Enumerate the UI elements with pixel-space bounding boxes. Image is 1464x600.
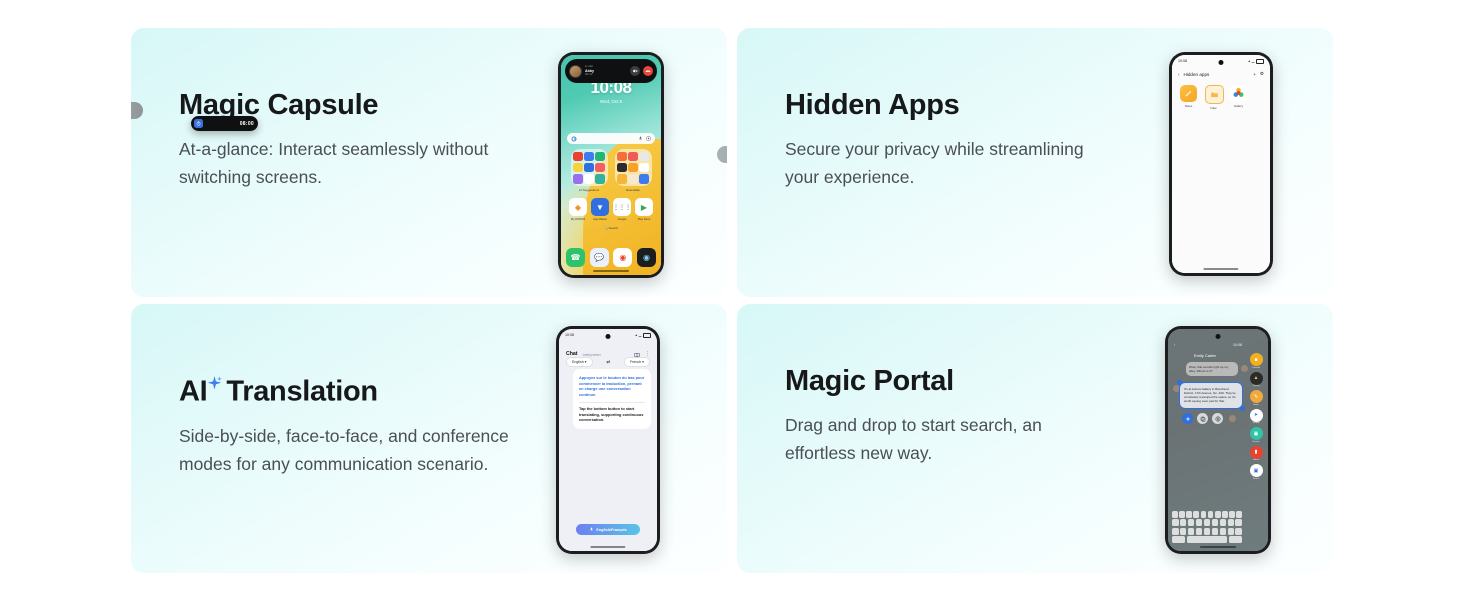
folder-icon-tile	[584, 174, 594, 184]
camera-punch-hole	[1216, 334, 1221, 339]
rail-label: Calendar	[1250, 367, 1263, 369]
status-icons: ▴ ▁	[1248, 59, 1264, 64]
button-label: English/Français	[596, 528, 626, 532]
ai-sparkle-icon	[206, 368, 223, 385]
my-honor-icon: ◆	[569, 198, 587, 216]
app-row: ◆ My HONOR ▼ App Market ⋮⋮⋮ Google	[566, 198, 656, 221]
message-bubble-incoming[interactable]: Wow, that sounds right up my alley. Wher…	[1186, 362, 1238, 376]
notes-icon: ✎	[1250, 390, 1263, 403]
folder-label: AI Suggestions	[571, 188, 608, 192]
phone-screen: 10:08 ▴ ▁ ‹ Hidden apps + ⚙	[1172, 55, 1270, 273]
folder-icon-tile	[617, 152, 627, 162]
home-indicator	[1200, 546, 1236, 548]
feature-cards-grid: Magic Capsule At-a-glance: Interact seam…	[131, 28, 1333, 573]
mic-icon	[589, 527, 594, 532]
source-language-chip[interactable]: English ▾	[566, 357, 593, 367]
mute-icon	[632, 68, 638, 74]
folder-icon-tile	[573, 163, 583, 173]
dock: ☎ 💬 ◉ ◉	[566, 248, 656, 267]
key[interactable]	[1204, 519, 1211, 526]
app-label: App Market	[591, 218, 609, 221]
google-folder-icon: ⋮⋮⋮	[613, 198, 631, 216]
folder-icon-tile	[573, 152, 583, 162]
card-text-block: AITranslation Side-by-side, face-to-face…	[179, 366, 509, 478]
rail-app-review[interactable]: ▣ Review	[1250, 427, 1263, 443]
phone-mockup-magic-capsule: 10:08 Wed, Oct 8 in call Abby 00:12	[558, 52, 664, 278]
key[interactable]	[1193, 511, 1199, 518]
files-icon	[1205, 85, 1224, 104]
title-prefix: AI	[179, 376, 207, 408]
folder-icon-tile	[584, 152, 594, 162]
phone-mockup-hidden-apps: 10:08 ▴ ▁ ‹ Hidden apps + ⚙	[1169, 52, 1273, 276]
signal-icon: ▁	[639, 333, 642, 337]
magic-capsule-timer-widget[interactable]: 08:00	[191, 116, 258, 131]
hidden-apps-header: ‹ Hidden apps + ⚙	[1178, 71, 1264, 77]
card-description: At-a-glance: Interact seamlessly without…	[179, 135, 509, 191]
folder-label: Essentials	[615, 188, 652, 192]
avatar	[1173, 385, 1180, 392]
page-title: AITranslation	[179, 366, 509, 409]
home-indicator	[593, 270, 629, 272]
wifi-icon: ▴	[635, 333, 637, 337]
key[interactable]	[1212, 528, 1219, 535]
phone-app-icon[interactable]: ☎	[566, 248, 585, 267]
videos-icon: ▮	[1250, 446, 1263, 459]
folder-icon-tile	[584, 163, 594, 173]
target-language-chip[interactable]: French ▾	[624, 357, 650, 367]
play-store-icon: ▶	[635, 198, 653, 216]
feature-card-hidden-apps[interactable]: Hidden Apps Secure your privacy while st…	[737, 28, 1333, 297]
home-screen-grid: AI Suggestions	[566, 149, 656, 230]
start-translation-button[interactable]: English/Français	[576, 524, 640, 535]
folder-icon-tile	[573, 174, 583, 184]
voice-recorder-pill[interactable]	[131, 102, 143, 119]
magic-portal-icon[interactable]	[1182, 413, 1193, 424]
key[interactable]	[1186, 511, 1192, 518]
selected-message-text: It's at Aurora Gallery in Riverbend Dist…	[1184, 387, 1236, 403]
key[interactable]	[1172, 511, 1178, 518]
app-play-store[interactable]: ▶ Play Store	[635, 198, 653, 221]
phone-screen: 10:08 ▴ ▁ Chat Interpreter ⋮	[559, 329, 657, 551]
rail-label: Review	[1250, 441, 1263, 443]
folder-ai-suggestions[interactable]: AI Suggestions	[571, 149, 608, 192]
key[interactable]	[1235, 519, 1242, 526]
folder-icon-tile	[595, 152, 605, 162]
translate-icon[interactable]	[1212, 413, 1223, 424]
copy-icon[interactable]	[1197, 413, 1208, 424]
source-text: Tap the bottom button to start translati…	[579, 406, 645, 423]
folder-essentials[interactable]: Essentials	[615, 149, 652, 192]
phone-screen: 10:08 Wed, Oct 8 in call Abby 00:12	[561, 55, 661, 275]
mute-button[interactable]	[630, 66, 640, 76]
source-language-label: English	[572, 360, 584, 364]
home-indicator	[590, 546, 625, 548]
card-description: Drag and drop to start search, an effort…	[785, 411, 1115, 467]
clock-date: Wed, Oct 8	[561, 99, 661, 104]
page-title: Hidden Apps	[785, 90, 1115, 122]
hidden-app-notes[interactable]: Notes	[1180, 85, 1197, 110]
key[interactable]	[1228, 519, 1235, 526]
folder-icon-tile	[639, 152, 649, 162]
target-language-label: French	[630, 360, 641, 364]
folder-preview	[615, 149, 652, 186]
folder-icon-tile	[628, 152, 638, 162]
language-selector-row: English ▾ ⇄ French ▾	[566, 357, 650, 367]
gallery-icon	[1230, 85, 1247, 102]
battery-icon	[643, 333, 651, 338]
on-screen-keyboard[interactable]	[1172, 511, 1242, 545]
shopify-icon: ➤	[1250, 409, 1263, 422]
title-suffix: Translation	[226, 376, 377, 408]
key[interactable]	[1180, 519, 1187, 526]
media-rewind-pill[interactable]	[717, 146, 727, 163]
folder-icon-tile	[628, 174, 638, 184]
card-description: Secure your privacy while streamlining y…	[785, 135, 1115, 191]
rail-app-driving[interactable]: ▲ Driving	[1250, 372, 1263, 388]
conversation-title: Emily Carter	[1168, 353, 1242, 358]
home-indicator	[1203, 268, 1238, 270]
rail-app-notes[interactable]: ✎ Notes	[1250, 390, 1263, 406]
chevron-left-icon[interactable]: ‹	[1174, 343, 1175, 347]
key[interactable]	[1188, 528, 1195, 535]
chrome-app-icon[interactable]: ◉	[613, 248, 632, 267]
folder-preview	[571, 149, 608, 186]
key[interactable]	[1222, 511, 1228, 518]
spacebar-key[interactable]	[1187, 536, 1227, 543]
search-icon: ▣	[1250, 464, 1263, 477]
hidden-apps-list: Notes Files	[1180, 85, 1247, 110]
folder-icon-tile	[639, 163, 649, 173]
end-call-button[interactable]	[643, 66, 653, 76]
rail-app-videos[interactable]: ▮ Videos	[1250, 446, 1263, 462]
folder-icon-tile	[595, 163, 605, 173]
magic-portal-app-rail: ■ Calendar ▲ Driving ✎ Notes ➤	[1244, 349, 1268, 543]
app-label: Play Store	[635, 218, 653, 221]
rail-label: Notes	[1250, 404, 1263, 406]
rail-app-search[interactable]: ▣ Search	[1250, 464, 1263, 480]
divider	[579, 402, 645, 403]
key[interactable]	[1220, 528, 1227, 535]
key[interactable]	[1229, 536, 1242, 543]
key[interactable]	[1229, 511, 1235, 518]
app-label: Gallery	[1230, 104, 1247, 108]
wifi-icon: ▴	[1248, 59, 1250, 63]
folder-icon-tile	[617, 174, 627, 184]
rail-label: Videos	[1250, 459, 1263, 461]
key[interactable]	[1179, 511, 1185, 518]
phone-mockup-ai-translation: 10:08 ▴ ▁ Chat Interpreter ⋮	[556, 326, 660, 554]
app-label: My HONOR	[569, 218, 587, 221]
google-g-icon	[571, 136, 577, 142]
rail-label: Shopify	[1250, 422, 1263, 424]
app-label: Google	[613, 218, 631, 221]
key[interactable]	[1228, 528, 1235, 535]
notes-icon	[1180, 85, 1197, 102]
key[interactable]	[1204, 528, 1211, 535]
key[interactable]	[1172, 519, 1179, 526]
end-call-icon	[645, 68, 651, 74]
lens-icon[interactable]	[646, 136, 651, 141]
plus-icon[interactable]: +	[1253, 72, 1256, 77]
card-text-block: Magic Portal Drag and drop to start sear…	[785, 366, 1115, 467]
calendar-icon: ■	[1250, 353, 1263, 366]
keyboard-row	[1172, 519, 1242, 526]
header-title: Hidden apps	[1184, 72, 1250, 77]
key[interactable]	[1180, 528, 1187, 535]
selection-handle-start[interactable]	[1177, 380, 1182, 385]
key[interactable]	[1201, 511, 1207, 518]
feature-card-magic-capsule[interactable]: Magic Capsule At-a-glance: Interact seam…	[131, 28, 727, 297]
mic-icon[interactable]	[638, 136, 643, 141]
app-market-icon: ▼	[591, 198, 609, 216]
key[interactable]	[1196, 519, 1203, 526]
app-google[interactable]: ⋮⋮⋮ Google	[613, 198, 631, 221]
chevron-left-icon[interactable]: ‹	[1178, 72, 1180, 77]
key[interactable]	[1188, 519, 1195, 526]
app-my-honor[interactable]: ◆ My HONOR	[569, 198, 587, 221]
feature-cards-page: Magic Capsule At-a-glance: Interact seam…	[0, 0, 1464, 600]
feature-card-ai-translation[interactable]: AITranslation Side-by-side, face-to-face…	[131, 304, 727, 573]
key[interactable]	[1236, 511, 1242, 518]
rail-label: Driving	[1250, 385, 1263, 387]
folder-icon-tile	[595, 174, 605, 184]
feature-card-magic-portal[interactable]: Magic Portal Drag and drop to start sear…	[737, 304, 1333, 573]
keyboard-row	[1172, 511, 1242, 518]
translated-text: Appuyez sur le bouton du bas pour commen…	[579, 375, 645, 398]
avatar	[569, 65, 582, 78]
translation-message-card: Appuyez sur le bouton du bas pour commen…	[573, 369, 651, 429]
camera-punch-hole	[1219, 60, 1224, 65]
key[interactable]	[1235, 528, 1242, 535]
card-text-block: Hidden Apps Secure your privacy while st…	[785, 90, 1115, 191]
status-time: 10:08	[565, 333, 574, 337]
driving-icon: ▲	[1250, 372, 1263, 385]
keyboard-row	[1172, 536, 1242, 543]
messages-app-icon[interactable]: 💬	[590, 248, 609, 267]
phone-screen: ‹ 10:08 Emily Carter Wow, that sounds ri…	[1168, 329, 1268, 551]
magic-capsule-call-widget[interactable]: in call Abby 00:12	[565, 59, 657, 83]
gear-icon[interactable]: ⚙	[1260, 71, 1264, 77]
status-time: 10:08	[1178, 59, 1187, 63]
battery-icon	[1256, 59, 1264, 64]
timer-value: 08:00	[240, 121, 254, 127]
folder-icon-tile	[628, 163, 638, 173]
avatar	[1229, 415, 1236, 422]
key[interactable]	[1172, 528, 1179, 535]
app-label: Notes	[1180, 104, 1197, 108]
status-time: 10:08	[1233, 343, 1242, 347]
app-search-label: Search	[609, 226, 619, 230]
rail-app-calendar[interactable]: ■ Calendar	[1250, 353, 1263, 369]
tab-interpreter[interactable]: Interpreter	[583, 352, 629, 357]
hidden-app-files[interactable]: Files	[1205, 85, 1222, 110]
key[interactable]	[1212, 519, 1219, 526]
key[interactable]	[1208, 511, 1214, 518]
signal-icon: ▁	[1252, 59, 1255, 63]
rail-app-shopify[interactable]: ➤ Shopify	[1250, 409, 1263, 425]
camera-punch-hole	[606, 334, 611, 339]
hidden-app-gallery[interactable]: Gallery	[1230, 85, 1247, 110]
google-search-bar[interactable]	[567, 133, 655, 144]
camera-app-icon[interactable]: ◉	[637, 248, 656, 267]
rail-label: Search	[1250, 478, 1263, 480]
keyboard-row	[1172, 528, 1242, 535]
card-text-block: Magic Capsule At-a-glance: Interact seam…	[179, 90, 509, 191]
status-icons: ▴ ▁	[635, 333, 651, 338]
folder-icon-tile	[617, 163, 627, 173]
review-icon: ▣	[1250, 427, 1263, 440]
card-description: Side-by-side, face-to-face, and conferen…	[179, 422, 509, 478]
key[interactable]	[1172, 536, 1185, 543]
phone-mockup-magic-portal: ‹ 10:08 Emily Carter Wow, that sounds ri…	[1165, 326, 1271, 554]
app-app-market[interactable]: ▼ App Market	[591, 198, 609, 221]
app-label: Files	[1205, 106, 1222, 110]
key[interactable]	[1215, 511, 1221, 518]
folder-row: AI Suggestions	[566, 149, 656, 192]
call-duration: 00:12	[585, 73, 627, 77]
app-search-hint[interactable]: 🔍 Search	[566, 226, 656, 230]
call-meta: in call Abby 00:12	[585, 65, 627, 77]
page-title: Magic Portal	[785, 366, 1115, 398]
timer-icon	[194, 119, 203, 128]
folder-icon-tile	[639, 174, 649, 184]
message-bubble-selected[interactable]: It's at Aurora Gallery in Riverbend Dist…	[1180, 383, 1242, 408]
key[interactable]	[1220, 519, 1227, 526]
conversation-topbar: ‹ 10:08	[1174, 343, 1242, 347]
swap-icon[interactable]: ⇄	[606, 359, 610, 365]
key[interactable]	[1196, 528, 1203, 535]
message-action-bar	[1182, 413, 1234, 424]
